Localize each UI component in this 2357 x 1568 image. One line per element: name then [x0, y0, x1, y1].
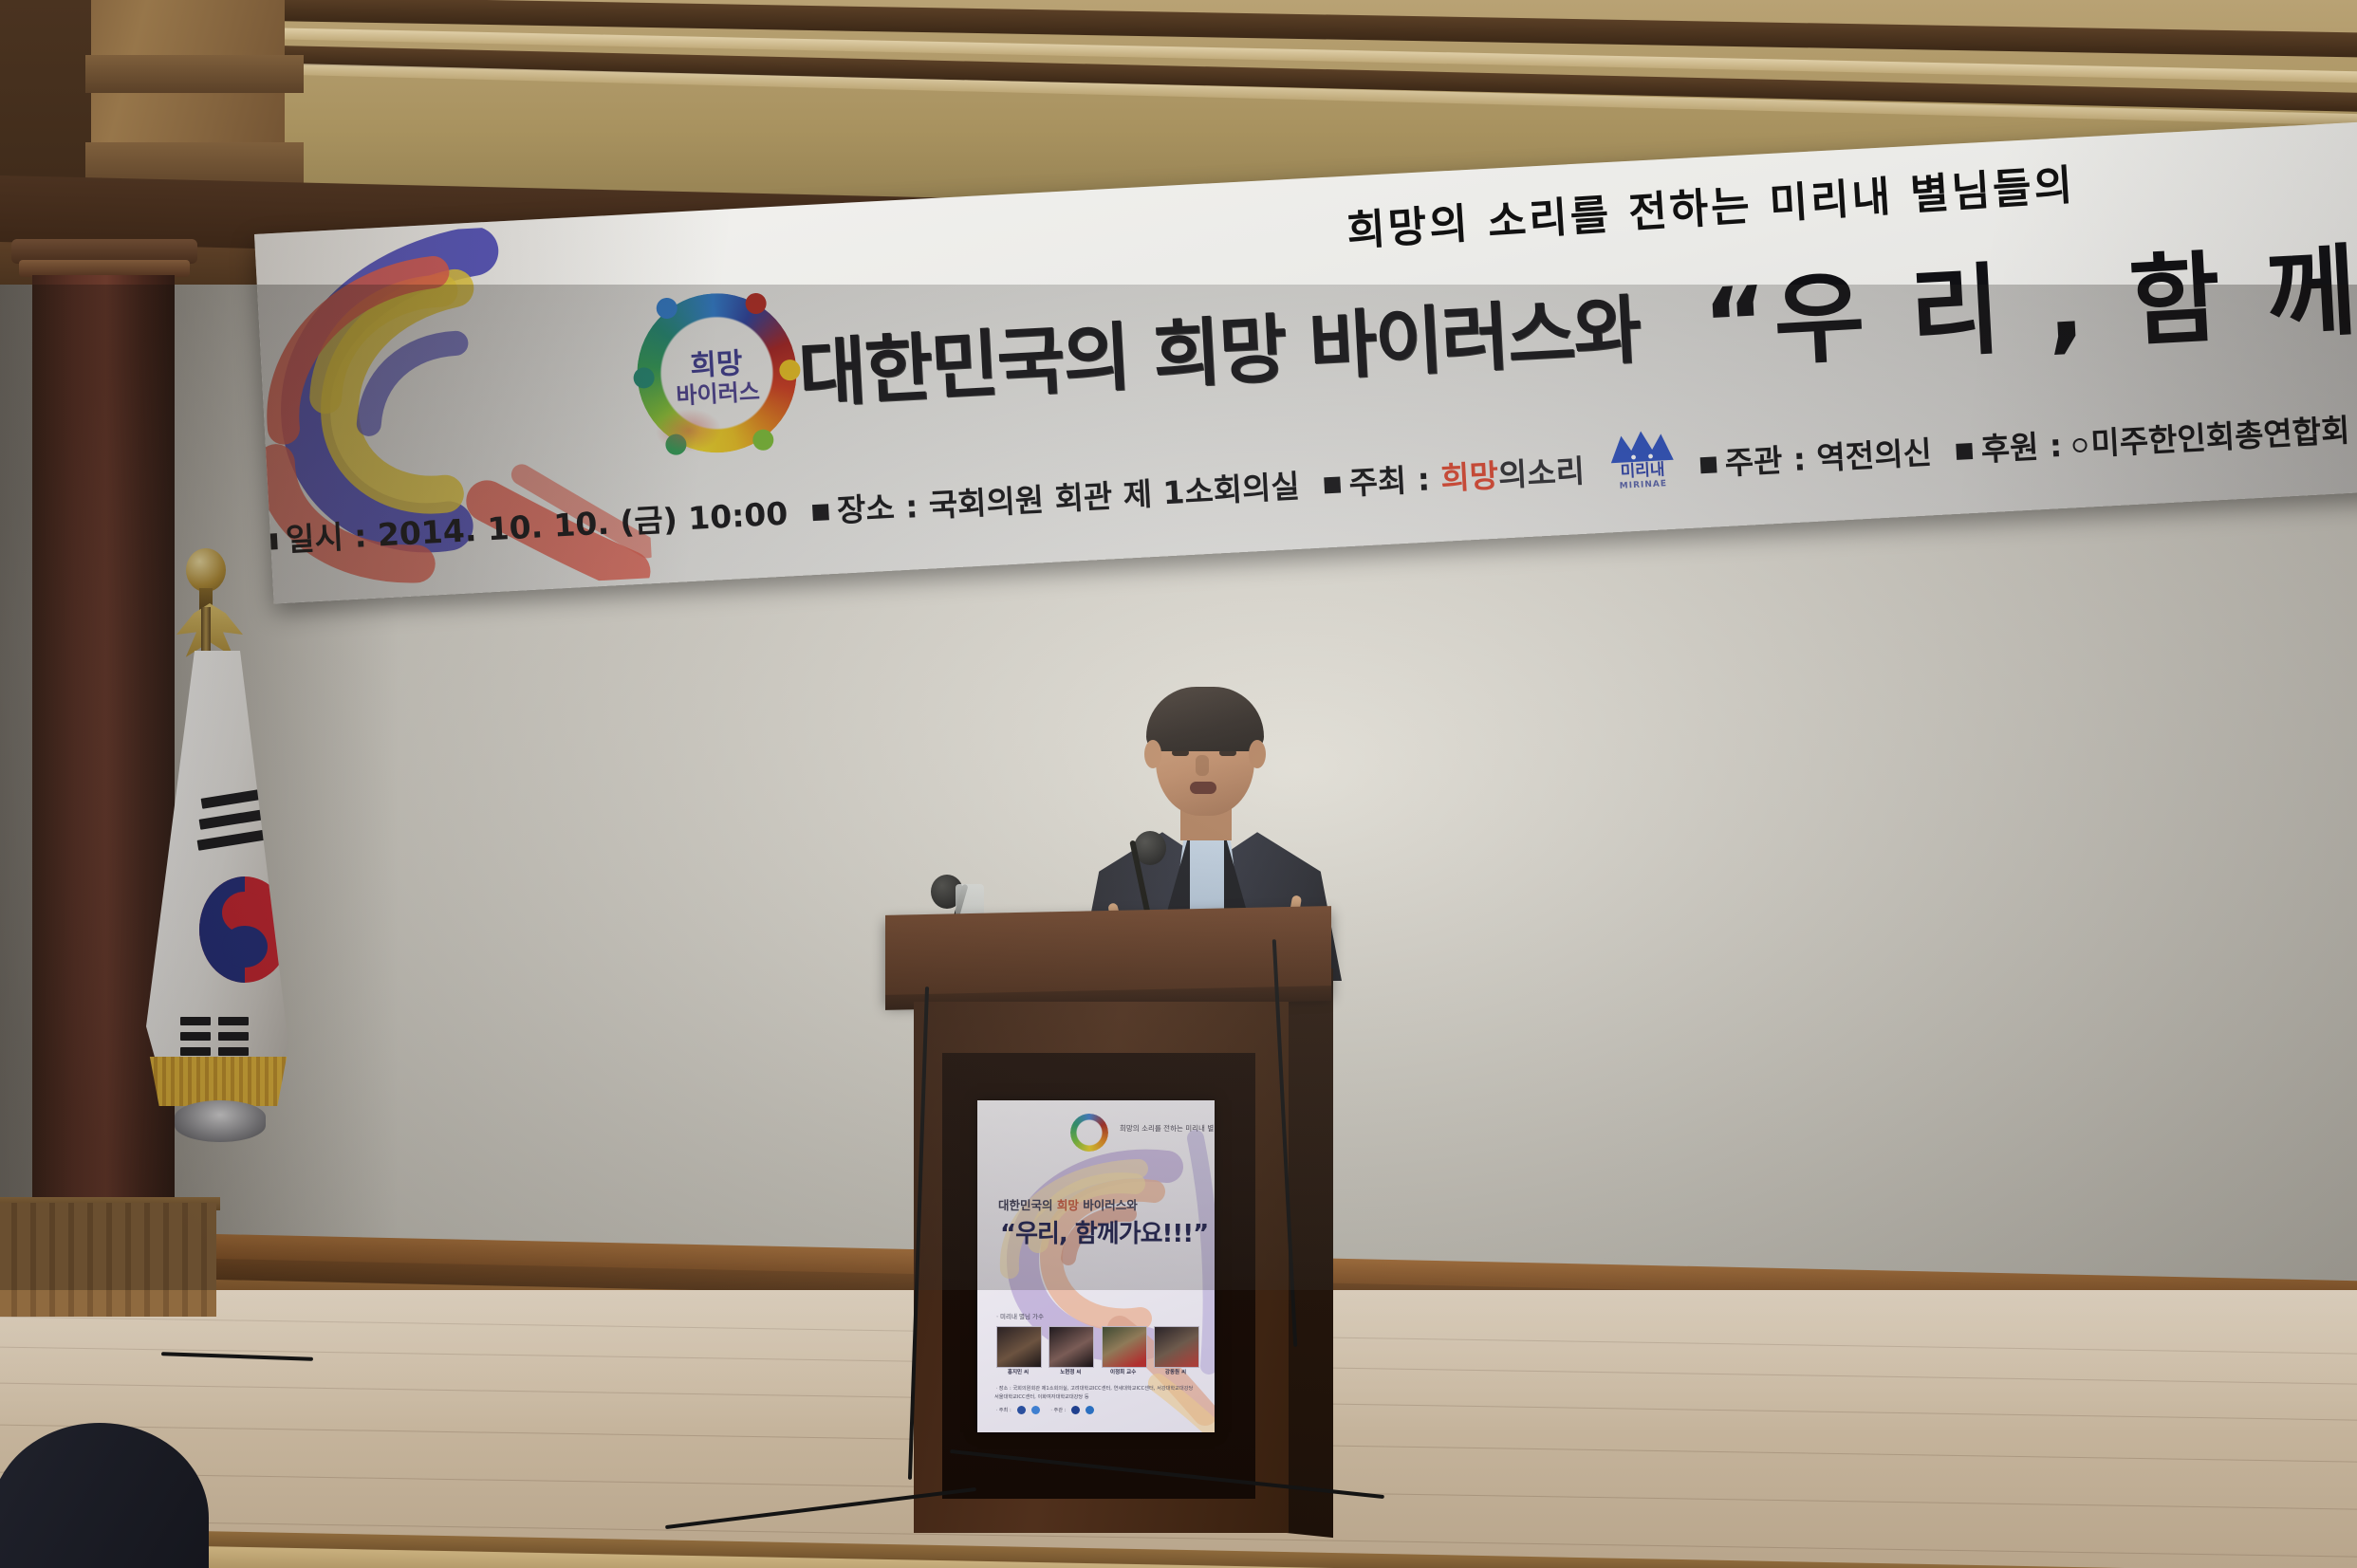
- guest-card: 강동원 씨: [1154, 1326, 1197, 1376]
- guest-card: 노현정 씨: [1049, 1326, 1092, 1376]
- guest-photo: [1102, 1326, 1147, 1368]
- guest-photo: [996, 1326, 1042, 1368]
- photo-scene: 희망 바이러스 희망의 소리를 전하는 미리내 별님들의 대한민국의 희망 바이…: [0, 0, 2357, 1568]
- poster-footer: ㆍ장소 : 국회의원회관 제1소회의실, 고려대학교ICC센터, 연세대학교IC…: [994, 1385, 1193, 1402]
- sponsor-badge: [1017, 1406, 1026, 1414]
- guest-card: 홍지민 씨: [996, 1326, 1040, 1376]
- sponsor-badge: [1071, 1406, 1080, 1414]
- poster-organizer-label: ㆍ주관 :: [1049, 1407, 1067, 1413]
- poster-sponsor-badges: ㆍ주최 : ㆍ주관 :: [994, 1406, 1094, 1414]
- poster-guest-photos: 홍지민 씨 노현정 씨 이정희 교수 강동원 씨: [996, 1326, 1197, 1376]
- guest-name: 홍지민 씨: [996, 1370, 1040, 1376]
- poster-guests-label: ㆍ미리내 별님 가수: [994, 1311, 1044, 1320]
- guest-photo: [1049, 1326, 1094, 1368]
- poster-host-label: ㆍ주최 :: [994, 1407, 1011, 1413]
- guest-card: 이정희 교수: [1102, 1326, 1145, 1376]
- guest-photo: [1154, 1326, 1199, 1368]
- sponsor-badge: [1031, 1406, 1040, 1414]
- guest-name: 강동원 씨: [1154, 1370, 1197, 1376]
- guest-name: 노현정 씨: [1049, 1370, 1092, 1376]
- sponsor-badge: [1086, 1406, 1094, 1414]
- guest-name: 이정희 교수: [1102, 1370, 1145, 1376]
